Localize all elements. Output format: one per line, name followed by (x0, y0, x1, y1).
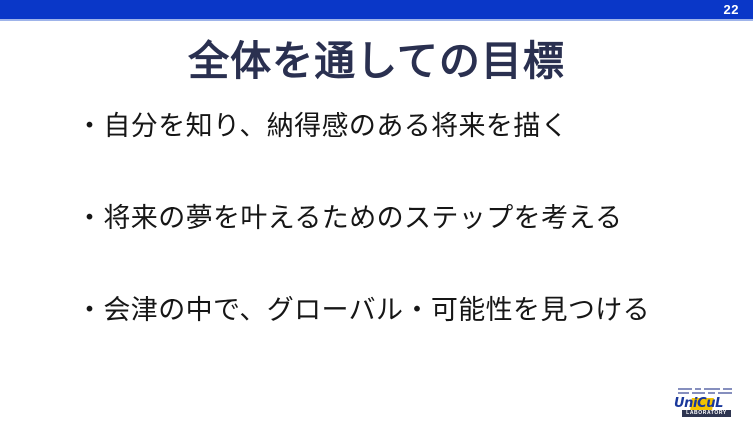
bullet-item-2: ・将来の夢を叶えるためのステップを考える (76, 202, 716, 236)
logo-mark: UniCuL LABORATORY (674, 397, 736, 418)
page-title: 全体を通しての目標 (0, 36, 753, 86)
logo-wordmark: UniCuL (674, 397, 723, 411)
page-number: 22 (724, 1, 739, 19)
header-underline (0, 19, 753, 21)
slide: 22 全体を通しての目標 ・自分を知り、納得感のある将来を描く ・将来の夢を叶え… (0, 0, 753, 430)
bullet-item-1: ・自分を知り、納得感のある将来を描く (76, 110, 716, 144)
bullet-item-3: ・会津の中で、グローバル・可能性を見つける (76, 294, 716, 328)
unicul-logo: UniCuL LABORATORY (674, 388, 736, 418)
bullet-list: ・自分を知り、納得感のある将来を描く ・将来の夢を叶えるためのステップを考える … (76, 110, 716, 328)
logo-subtitle: LABORATORY (682, 410, 731, 417)
logo-tagline-micro-text (678, 388, 734, 396)
header-bar (0, 0, 753, 19)
